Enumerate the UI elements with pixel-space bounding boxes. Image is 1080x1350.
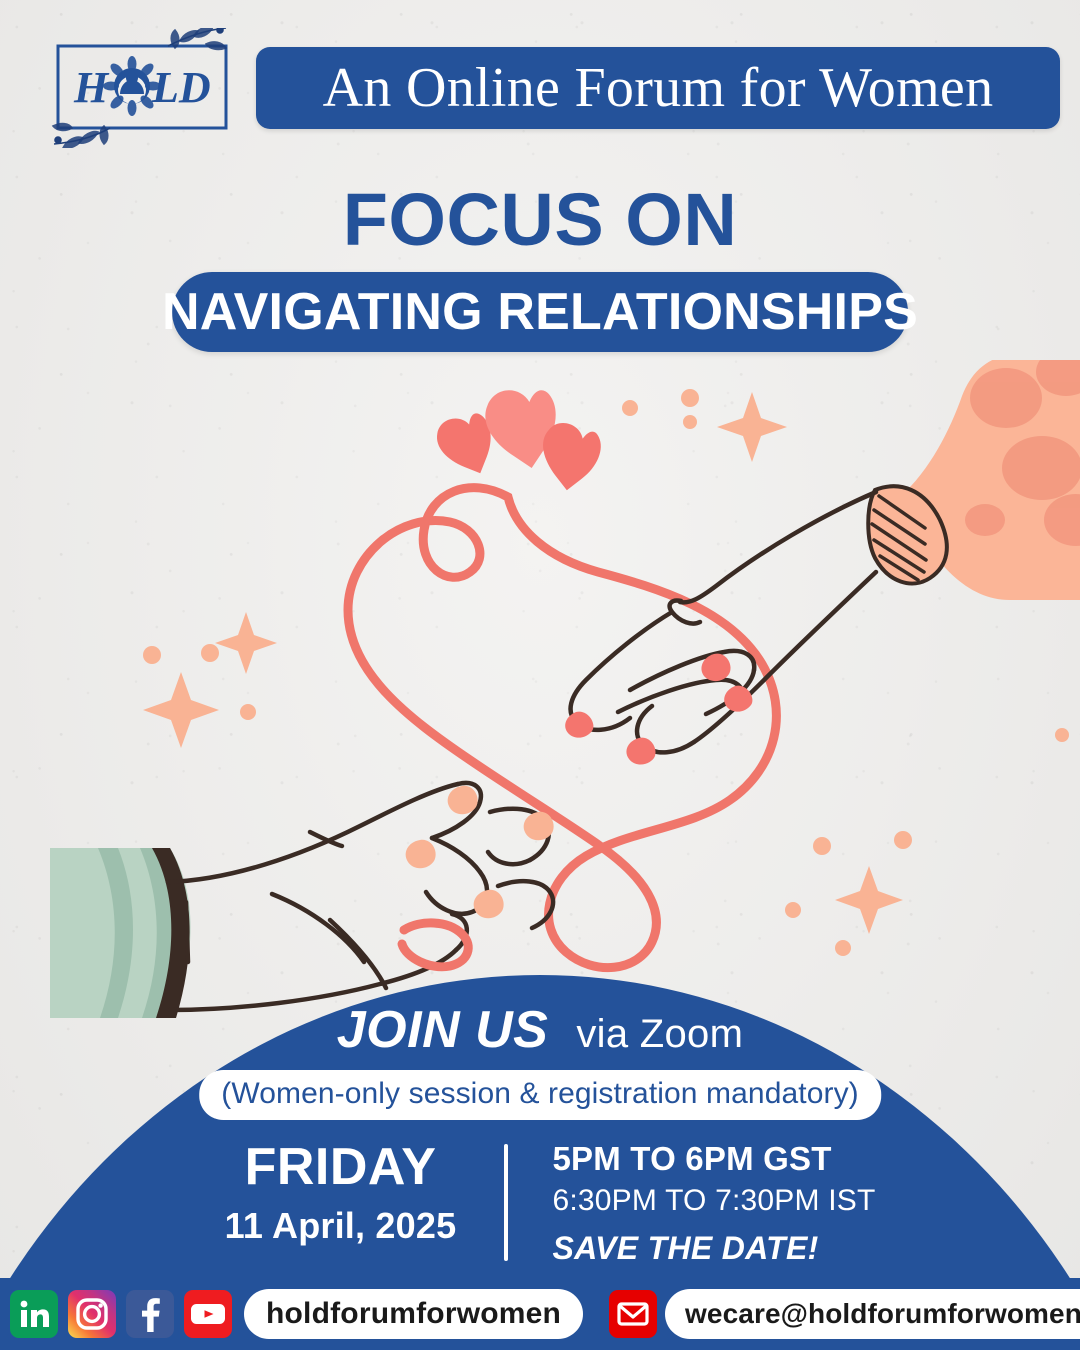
facebook-icon[interactable]	[126, 1290, 174, 1338]
topic-text: NAVIGATING RELATIONSHIPS	[162, 282, 918, 342]
hand-upper-right	[565, 348, 1080, 765]
page-title-eyebrow: FOCUS ON	[0, 183, 1080, 257]
event-time-block: 5PM TO 6PM GST 6:30PM TO 7:30PM IST SAVE…	[508, 1140, 875, 1267]
event-date: 11 April, 2025	[204, 1205, 476, 1247]
registration-note-pill: (Women-only session & registration manda…	[199, 1070, 881, 1120]
email-text: wecare@holdforumforwomen.com	[685, 1298, 1080, 1330]
footer-bar: holdforumforwomen wecare@holdforumforwom…	[0, 1278, 1080, 1350]
mail-icon[interactable]	[609, 1290, 657, 1338]
three-hearts	[433, 389, 605, 497]
linkedin-icon[interactable]	[10, 1290, 58, 1338]
registration-note-text: (Women-only session & registration manda…	[221, 1077, 859, 1110]
social-handle-pill[interactable]: holdforumforwomen	[244, 1289, 583, 1339]
email-pill[interactable]: wecare@holdforumforwomen.com	[665, 1289, 1080, 1339]
join-row: JOIN US via Zoom	[0, 1000, 1080, 1060]
header-banner-text: An Online Forum for Women	[323, 60, 994, 116]
logo-emblem	[103, 56, 161, 116]
event-day: FRIDAY	[204, 1140, 476, 1195]
event-time-secondary: 6:30PM TO 7:30PM IST	[552, 1184, 875, 1218]
save-the-date-label: SAVE THE DATE!	[552, 1230, 875, 1267]
hold-logo[interactable]: H LD	[48, 28, 248, 148]
poster-header: H LD	[48, 28, 1060, 148]
header-banner: An Online Forum for Women	[256, 47, 1060, 129]
social-handle-text: holdforumforwomen	[266, 1297, 561, 1331]
poster-canvas: H LD	[0, 0, 1080, 1350]
event-time-primary: 5PM TO 6PM GST	[552, 1140, 875, 1178]
instagram-icon[interactable]	[68, 1290, 116, 1338]
email-group: wecare@holdforumforwomen.com	[609, 1289, 1080, 1339]
join-us-label: JOIN US	[337, 1000, 549, 1060]
youtube-icon[interactable]	[184, 1290, 232, 1338]
topic-pill: NAVIGATING RELATIONSHIPS	[172, 272, 908, 352]
event-date-block: FRIDAY 11 April, 2025	[204, 1140, 504, 1267]
platform-label: via Zoom	[576, 1012, 743, 1057]
event-details: FRIDAY 11 April, 2025 5PM TO 6PM GST 6:3…	[0, 1140, 1080, 1267]
